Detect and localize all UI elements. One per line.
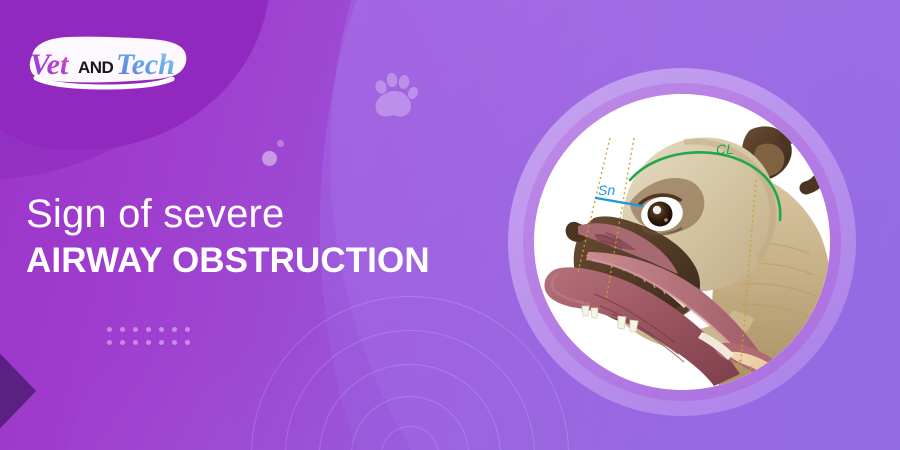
illustration-circle-outer: CL Sn: [508, 68, 856, 416]
sparkle-dot-small: [277, 140, 284, 147]
dog-anatomy-graphic: CL Sn: [534, 94, 830, 390]
cl-label: CL: [716, 141, 734, 157]
vetandtech-logo[interactable]: Vet AND Tech: [18, 32, 190, 94]
logo-graphic: Vet AND Tech: [18, 32, 190, 94]
logo-text-and: AND: [78, 58, 114, 77]
dog-airway-illustration: CL Sn: [534, 94, 830, 390]
logo-text-tech: Tech: [116, 48, 175, 81]
promo-banner: Vet AND Tech Sign of severe AIRWAY OBSTR…: [0, 0, 900, 450]
logo-text-vet: Vet: [30, 48, 70, 81]
headline-line-1: Sign of severe: [26, 192, 456, 237]
headline-line-2: AIRWAY OBSTRUCTION: [26, 240, 456, 282]
dot-grid-icon: [107, 327, 198, 353]
headline-block: Sign of severe AIRWAY OBSTRUCTION: [26, 192, 456, 282]
chevron-right-icon: [0, 316, 98, 450]
illustration-circle-ring: CL Sn: [523, 83, 841, 401]
sparkle-dot-large: [262, 151, 277, 166]
paw-print-icon: [372, 72, 418, 120]
sn-label: Sn: [598, 182, 615, 198]
